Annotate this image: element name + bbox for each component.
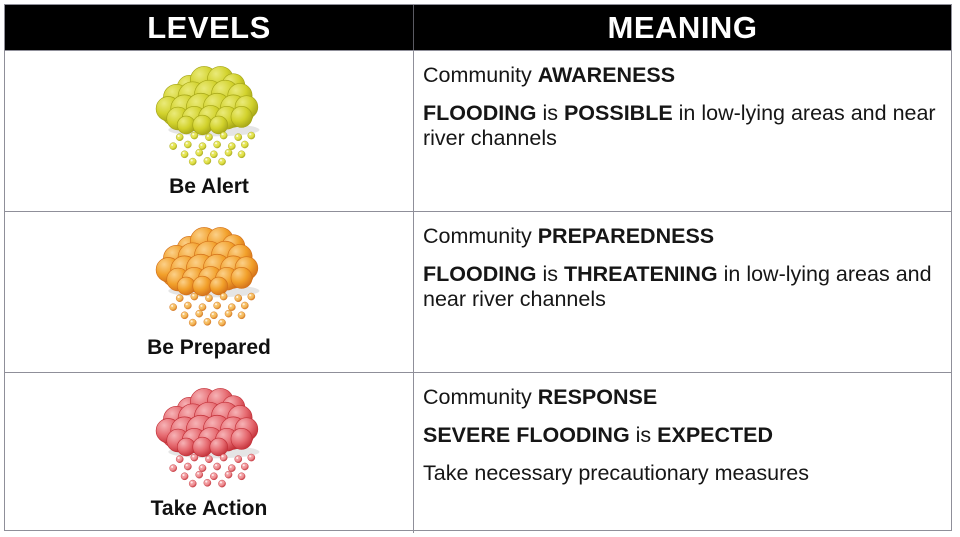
meaning-line: FLOODING is POSSIBLE in low-lying areas … bbox=[423, 101, 937, 151]
column-header-meaning: MEANING bbox=[414, 5, 951, 50]
table-row: Be PreparedCommunity PREPAREDNESSFLOODIN… bbox=[5, 211, 951, 372]
meaning-text-plain: Community bbox=[423, 224, 538, 248]
meaning-line: Community AWARENESS bbox=[423, 63, 937, 88]
table-body: Be AlertCommunity AWARENESSFLOODING is P… bbox=[5, 50, 951, 533]
meaning-text-plain: Take necessary precautionary measures bbox=[423, 461, 809, 485]
meaning-text-emphasis: RESPONSE bbox=[538, 385, 657, 409]
meaning-text-emphasis: THREATENING bbox=[564, 262, 718, 286]
table-header-row: LEVELS MEANING bbox=[5, 5, 951, 50]
meaning-line: SEVERE FLOODING is EXPECTED bbox=[423, 423, 937, 448]
column-header-levels: LEVELS bbox=[5, 5, 414, 50]
flood-warning-levels-table: LEVELS MEANING Be AlertCommunity AWARENE… bbox=[4, 4, 952, 531]
meaning-text-emphasis: SEVERE FLOODING bbox=[423, 423, 630, 447]
table-row: Take ActionCommunity RESPONSESEVERE FLOO… bbox=[5, 372, 951, 533]
meaning-text-plain: is bbox=[536, 262, 563, 286]
meaning-text-emphasis: POSSIBLE bbox=[564, 101, 673, 125]
level-cell: Take Action bbox=[5, 373, 414, 533]
meaning-text-plain: Community bbox=[423, 63, 538, 87]
meaning-line: Community RESPONSE bbox=[423, 385, 937, 410]
meaning-cell: Community PREPAREDNESSFLOODING is THREAT… bbox=[414, 212, 951, 372]
level-cell: Be Prepared bbox=[5, 212, 414, 372]
meaning-line: Take necessary precautionary measures bbox=[423, 461, 937, 486]
meaning-text-emphasis: EXPECTED bbox=[657, 423, 773, 447]
yellow-rain-cloud-icon bbox=[129, 55, 289, 173]
meaning-text-plain: Community bbox=[423, 385, 538, 409]
meaning-cell: Community RESPONSESEVERE FLOODING is EXP… bbox=[414, 373, 951, 533]
level-label: Be Prepared bbox=[147, 336, 271, 360]
level-label: Be Alert bbox=[169, 175, 249, 199]
orange-rain-cloud-icon bbox=[129, 216, 289, 334]
meaning-line: Community PREPAREDNESS bbox=[423, 224, 937, 249]
red-rain-cloud-icon bbox=[129, 377, 289, 495]
meaning-text-plain: is bbox=[536, 101, 563, 125]
level-label: Take Action bbox=[151, 497, 268, 521]
meaning-line: FLOODING is THREATENING in low-lying are… bbox=[423, 262, 937, 312]
table-row: Be AlertCommunity AWARENESSFLOODING is P… bbox=[5, 50, 951, 211]
meaning-cell: Community AWARENESSFLOODING is POSSIBLE … bbox=[414, 51, 951, 211]
meaning-text-emphasis: AWARENESS bbox=[538, 63, 675, 87]
level-cell: Be Alert bbox=[5, 51, 414, 211]
meaning-text-emphasis: FLOODING bbox=[423, 101, 536, 125]
meaning-text-emphasis: FLOODING bbox=[423, 262, 536, 286]
meaning-text-emphasis: PREPAREDNESS bbox=[538, 224, 714, 248]
meaning-text-plain: is bbox=[630, 423, 657, 447]
